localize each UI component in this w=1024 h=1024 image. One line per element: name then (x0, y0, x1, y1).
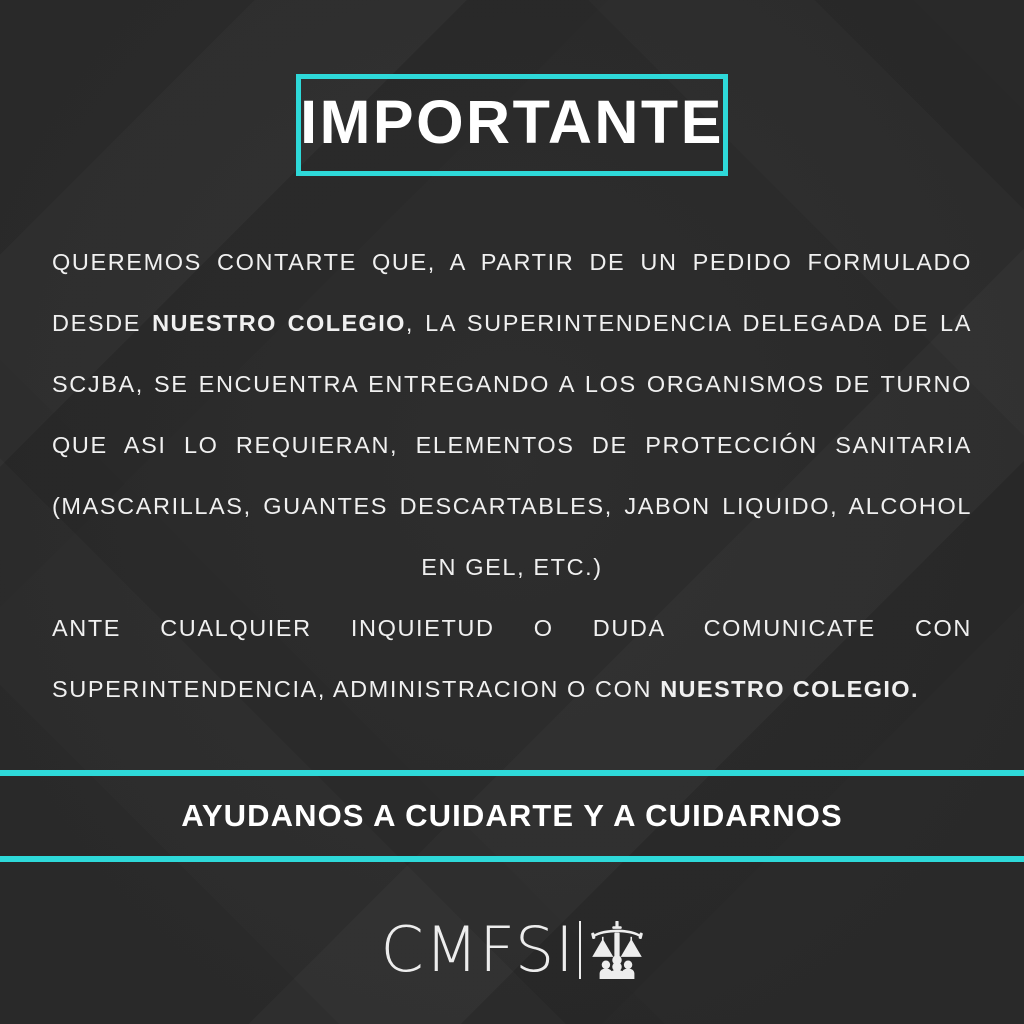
body-section: QUEREMOS CONTARTE QUE, A PARTIR DE UN PE… (52, 232, 972, 720)
page-title: IMPORTANTE (300, 92, 724, 153)
logo-section: CMFSI (0, 908, 1024, 992)
scales-of-justice-with-people-icon (590, 921, 644, 979)
banner-slogan: AYUDANOS A CUIDARTE Y A CUIDARNOS (181, 798, 843, 834)
logo-divider-bar (579, 921, 581, 979)
paragraph-one: QUEREMOS CONTARTE QUE, A PARTIR DE UN PE… (52, 232, 972, 598)
title-box: IMPORTANTE (296, 74, 728, 176)
poster-canvas: IMPORTANTE QUEREMOS CONTARTE QUE, A PART… (0, 0, 1024, 1024)
title-section: IMPORTANTE (0, 74, 1024, 176)
banner-section: AYUDANOS A CUIDARTE Y A CUIDARNOS (0, 776, 1024, 856)
logo-wordmark: CMFSI (381, 919, 575, 981)
banner-rule-bottom (0, 856, 1024, 862)
paragraph-two: ANTE CUALQUIER INQUIETUD O DUDA COMUNICA… (52, 598, 972, 720)
